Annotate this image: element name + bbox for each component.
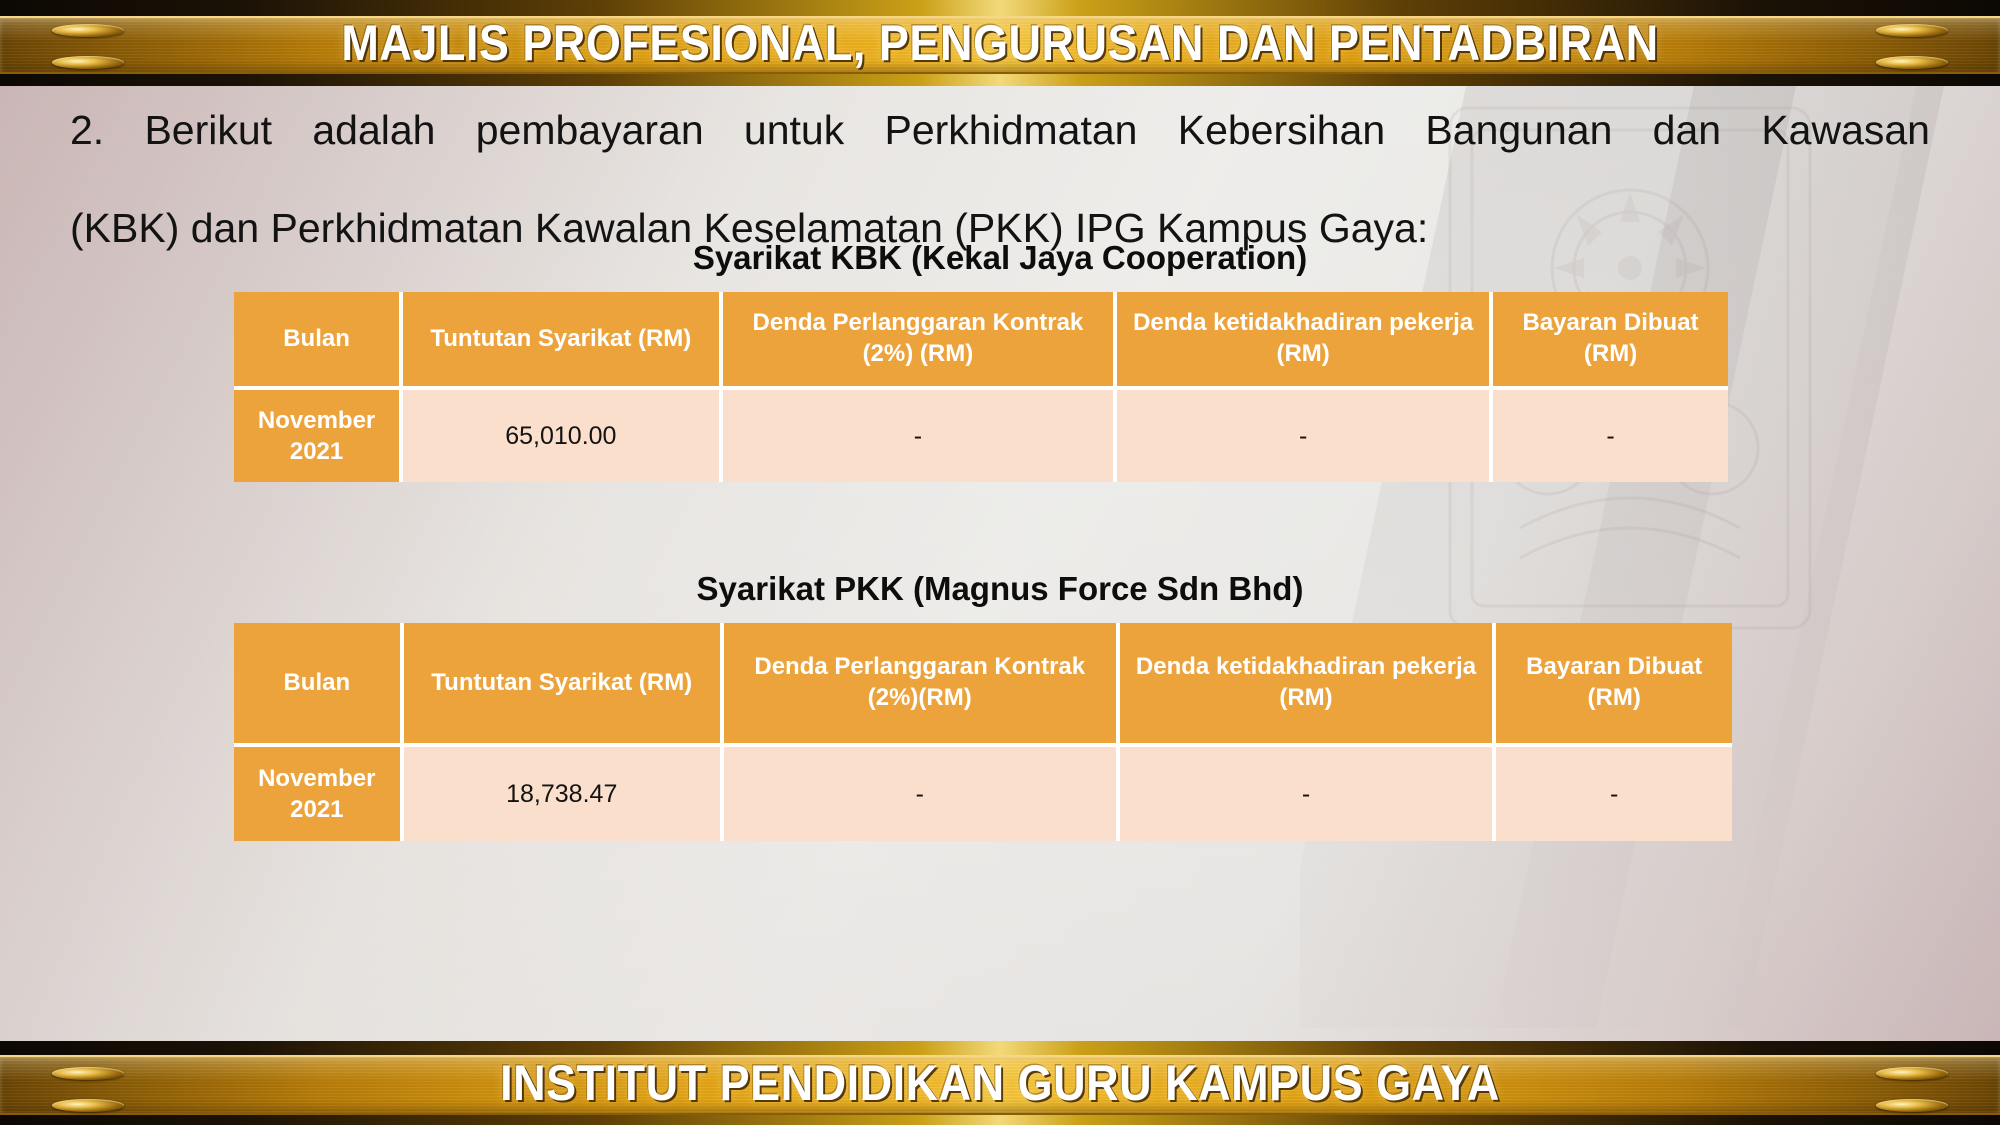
cell-bayaran: - [1493, 390, 1728, 482]
column-header-bulan: Bulan [234, 292, 403, 390]
column-header-tuntutan: Tuntutan Syarikat (RM) [403, 292, 722, 390]
body-line-1: 2. Berikut adalah pembayaran untuk Perkh… [70, 106, 1930, 204]
slide: MAJLIS PROFESIONAL, PENGURUSAN DAN PENTA… [0, 0, 2000, 1125]
column-header-denda-pekerja: Denda ketidakhadiran pekerja (RM) [1117, 292, 1493, 390]
column-header-tuntutan: Tuntutan Syarikat (RM) [404, 623, 724, 747]
footer-banner: INSTITUT PENDIDIKAN GURU KAMPUS GAYA [0, 1041, 2000, 1125]
column-header-denda-pekerja: Denda ketidakhadiran pekerja (RM) [1120, 623, 1497, 747]
table-row: November 2021 18,738.47 - - - [234, 747, 1732, 841]
table-kbk: Bulan Tuntutan Syarikat (RM) Denda Perla… [234, 292, 1728, 482]
table-row: November 2021 65,010.00 - - - [234, 390, 1728, 482]
cell-denda-kontrak: - [723, 390, 1118, 482]
cell-bayaran: - [1496, 747, 1732, 841]
table-title-kbk: Syarikat KBK (Kekal Jaya Cooperation) [0, 239, 2000, 277]
column-header-bayaran: Bayaran Dibuat (RM) [1496, 623, 1732, 747]
header-title: MAJLIS PROFESIONAL, PENGURUSAN DAN PENTA… [0, 14, 2000, 72]
cell-bulan: November 2021 [234, 747, 404, 841]
footer-title: INSTITUT PENDIDIKAN GURU KAMPUS GAYA [0, 1054, 2000, 1112]
body-paragraph: 2. Berikut adalah pembayaran untuk Perkh… [70, 106, 1930, 252]
cell-bulan: November 2021 [234, 390, 403, 482]
cell-tuntutan: 18,738.47 [404, 747, 724, 841]
table-header-row: Bulan Tuntutan Syarikat (RM) Denda Perla… [234, 292, 1728, 390]
table-title-pkk: Syarikat PKK (Magnus Force Sdn Bhd) [0, 570, 2000, 608]
cell-denda-pekerja: - [1117, 390, 1493, 482]
cell-denda-pekerja: - [1120, 747, 1497, 841]
cell-denda-kontrak: - [724, 747, 1120, 841]
cell-tuntutan: 65,010.00 [403, 390, 722, 482]
table-header-row: Bulan Tuntutan Syarikat (RM) Denda Perla… [234, 623, 1732, 747]
table-pkk: Bulan Tuntutan Syarikat (RM) Denda Perla… [234, 623, 1732, 841]
column-header-bayaran: Bayaran Dibuat (RM) [1493, 292, 1728, 390]
column-header-bulan: Bulan [234, 623, 404, 747]
column-header-denda-kontrak: Denda Perlanggaran Kontrak (2%)(RM) [724, 623, 1120, 747]
column-header-denda-kontrak: Denda Perlanggaran Kontrak (2%) (RM) [723, 292, 1118, 390]
header-banner: MAJLIS PROFESIONAL, PENGURUSAN DAN PENTA… [0, 0, 2000, 86]
